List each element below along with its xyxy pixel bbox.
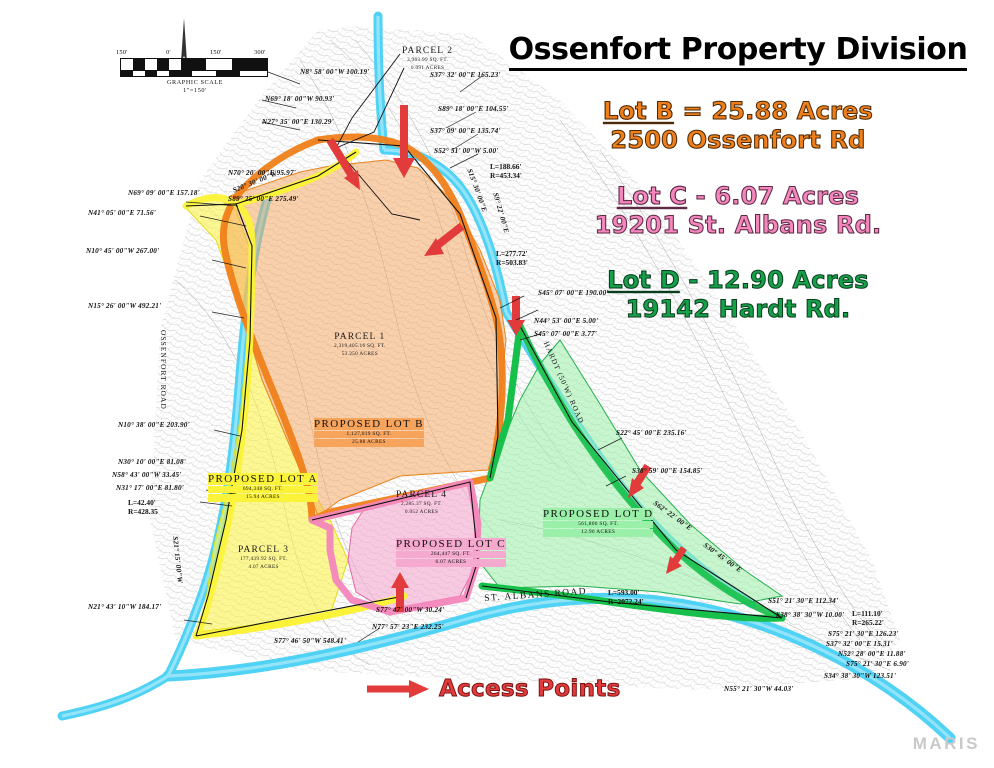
north-arrow-icon (172, 16, 196, 64)
scale-caption: GRAPHIC SCALE 1"=150' (120, 79, 270, 96)
parcel-2-label: PARCEL 2 3,963.99 SQ. FT. 0.091 ACRES (402, 46, 453, 72)
parcel-4-name: PARCEL 4 (396, 490, 447, 500)
bearing-label: N77° 57' 23"E 232.25' (372, 624, 444, 632)
parcel-4-label: PARCEL 4 2,285.37 SQ. FT. 0.052 ACRES (396, 490, 447, 516)
legend-lot-c-line2: 19201 St. Albans Rd. (490, 211, 986, 240)
bearing-label: N55° 21' 30"W 44.03' (724, 686, 793, 694)
bearing-label: S75° 21' 30"E 6.90' (846, 661, 909, 669)
parcel-3-area-acres: 4.07 ACRES (238, 564, 289, 571)
parcel-1-area-acres: 53.250 ACRES (334, 351, 386, 358)
curve-data: L=593.00' R=2072.24' (608, 589, 644, 606)
lot-d-name: PROPOSED LOT D (543, 508, 653, 520)
bearing-label: N21° 43' 10"W 184.17' (88, 604, 161, 612)
bearing-label: N10° 45' 00"W 267.00' (86, 248, 159, 256)
bearing-label: S45° 07' 00"E 190.00' (538, 290, 609, 298)
lot-c-area-acres: 6.07 ACRES (396, 559, 506, 566)
legend-lot-d-label: Lot D (607, 266, 680, 294)
scale-bar (120, 58, 268, 71)
lot-c-name: PROPOSED LOT C (396, 538, 506, 550)
ossenfort-road-label: OSSENFORT ROAD (159, 330, 168, 410)
bearing-label: N8° 58' 00"W 100.19' (300, 69, 369, 77)
lot-c-area-sqft: 264,447 SQ. FT. (396, 551, 506, 558)
bearing-label: N44° 53' 00"E 5.00' (534, 318, 598, 326)
lot-b-area-sqft: 1,127,019 SQ. FT. (314, 431, 424, 438)
bearing-label: S38° 38' 30"W 10.00' (776, 612, 844, 620)
bearing-label: N30° 10' 00"E 81.08' (118, 459, 186, 467)
property-division-map: 150' 0' 150' 300' GRAPHIC SCALE 1"=150 (0, 0, 994, 768)
scale-tick-2: 150' (210, 49, 222, 56)
legend-lot-b-line2: 2500 Ossenfort Rd (490, 126, 986, 155)
legend-lot-d-rest: - 12.90 Acres (680, 266, 869, 294)
title-block: Ossenfort Property Division Lot B = 25.8… (490, 32, 986, 325)
lot-a-area-sqft: 694,348 SQ. FT. (208, 486, 318, 493)
lot-b-area-acres: 25.88 ACRES (314, 439, 424, 446)
curve-radius: R=2072.24' (608, 597, 644, 606)
legend-lot-b-label: Lot B (603, 97, 674, 125)
parcel-2-name: PARCEL 2 (402, 46, 453, 56)
legend-lot-b-line1: Lot B = 25.88 Acres (490, 97, 986, 126)
legend-lot-c-label: Lot C (617, 182, 687, 210)
bearing-label: N10° 38' 00"E 203.90' (118, 422, 190, 430)
bearing-label: N69° 18' 00"W 90.93' (265, 96, 334, 104)
bearing-label: S38° 59' 00"E 154.85' (632, 468, 703, 476)
bearing-label: N15° 26' 00"W 492.21' (88, 303, 161, 311)
curve-data: L=188.66' R=453.34' (490, 163, 522, 180)
bearing-label: N69° 09' 00"E 157.18' (128, 190, 200, 198)
curve-radius: R=503.83' (496, 258, 528, 267)
lot-d-area-sqft: 561,806 SQ. FT. (543, 521, 653, 528)
lot-c-map-label: PROPOSED LOT C 264,447 SQ. FT. 6.07 ACRE… (396, 538, 506, 567)
lot-b-map-label: PROPOSED LOT B 1,127,019 SQ. FT. 25.88 A… (314, 418, 424, 447)
lot-d-area-acres: 12.90 ACRES (543, 529, 653, 536)
lot-a-area-acres: 15.94 ACRES (208, 494, 318, 501)
lot-a-map-label: PROPOSED LOT A 694,348 SQ. FT. 15.94 ACR… (208, 473, 318, 502)
bearing-label: S22° 45' 00"E 235.16' (616, 430, 687, 438)
bearing-label: S51° 21' 30"E 112.34' (768, 598, 838, 606)
bearing-label: S52° 51' 00"W 5.00' (434, 148, 498, 156)
access-points-label: Access Points (439, 676, 621, 702)
bearing-label: N52° 28' 00"E 11.88' (838, 651, 906, 659)
lot-a-name: PROPOSED LOT A (208, 473, 318, 485)
parcel-3-area-sqft: 177,439.92 SQ. FT. (238, 556, 289, 563)
curve-radius: R=453.34' (490, 171, 522, 180)
bearing-label: S77° 46' 50"W 548.41' (274, 638, 346, 646)
bearing-label: S77° 47' 00"W 30.24' (376, 607, 444, 615)
bearing-label: S89° 18' 00"E 104.55' (438, 106, 509, 114)
lot-b-name: PROPOSED LOT B (314, 418, 424, 430)
legend-lot-b-rest: = 25.88 Acres (674, 97, 873, 125)
curve-data: L=277.72' R=503.83' (496, 250, 528, 267)
bearing-label: N31° 17' 00"E 81.80' (116, 485, 184, 493)
graphic-scale: 150' 0' 150' 300' GRAPHIC SCALE 1"=150 (120, 58, 270, 96)
access-points-legend: Access Points (365, 676, 621, 702)
legend-lot-c-rest: - 6.07 Acres (687, 182, 859, 210)
parcel-3-label: PARCEL 3 177,439.92 SQ. FT. 4.07 ACRES (238, 545, 289, 571)
bearing-label: S37° 32' 00"E 165.23' (430, 72, 501, 80)
legend-lot-c-line1: Lot C - 6.07 Acres (490, 182, 986, 211)
ossenfort-road-south (62, 676, 168, 716)
bearing-label: N41° 05' 00"E 71.56' (88, 210, 156, 218)
scale-tick-3: 300' (254, 49, 266, 56)
scale-caption-line2: 1"=150' (183, 87, 207, 94)
bearing-label: S37° 32' 00"E 15.31' (826, 641, 893, 649)
curve-radius: R=428.35 (128, 507, 158, 516)
parcel-3-name: PARCEL 3 (238, 545, 289, 555)
lot-d-map-label: PROPOSED LOT D 561,806 SQ. FT. 12.90 ACR… (543, 508, 653, 537)
scale-tick-0: 150' (116, 49, 128, 56)
bearing-label: S75° 21' 30"E 126.23' (828, 631, 899, 639)
curve-radius: R=265.22' (852, 618, 884, 627)
parcel-1-label: PARCEL 1 2,319,405.16 SQ. FT. 53.250 ACR… (334, 332, 386, 358)
bearing-label: S34° 38' 30"W 123.51' (824, 673, 896, 681)
curve-data: L=111.10' R=265.22' (852, 610, 884, 627)
parcel-2-area-sqft: 3,963.99 SQ. FT. (402, 57, 453, 64)
parcel-4-area-acres: 0.052 ACRES (396, 509, 447, 516)
scale-tick-1: 0' (166, 49, 171, 56)
bearing-label: S89° 25' 00"E 275.49' (228, 196, 299, 204)
bearing-label: N58° 43' 00"W 33.45' (112, 472, 181, 480)
right-arrow-icon (365, 679, 431, 699)
curve-data: L=42.40' R=428.35 (128, 499, 158, 516)
bearing-label: S45° 07' 00"E 3.77' (534, 331, 597, 339)
bearing-label: S37° 09' 00"E 135.74' (430, 128, 501, 136)
maris-watermark: MARIS (913, 734, 980, 754)
page-title: Ossenfort Property Division (509, 32, 968, 71)
parcel-1-name: PARCEL 1 (334, 332, 386, 342)
parcel-4-area-sqft: 2,285.37 SQ. FT. (396, 501, 447, 508)
scale-caption-line1: GRAPHIC SCALE (167, 79, 223, 86)
bearing-label: N27° 35' 00"E 130.29' (262, 119, 334, 127)
parcel-1-area-sqft: 2,319,405.16 SQ. FT. (334, 343, 386, 350)
